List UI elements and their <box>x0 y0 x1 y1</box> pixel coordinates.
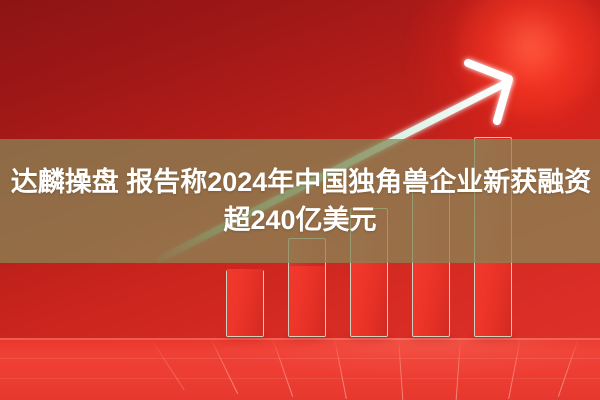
page-title: 达麟操盘 报告称2024年中国独角兽企业新获融资 超240亿美元 <box>0 139 600 263</box>
perspective-floor <box>0 338 600 400</box>
chart-bar-5-fill <box>475 261 511 336</box>
floor-horizontal-line <box>0 378 600 379</box>
chart-bar-2-fill <box>289 266 325 336</box>
chart-bar-1 <box>226 270 264 337</box>
floor-horizontal-line <box>0 358 600 359</box>
chart-bar-1-fill <box>227 269 263 336</box>
chart-bar-4-fill <box>413 261 449 336</box>
headline-line-1: 达麟操盘 报告称2024年中国独角兽企业新获融资 <box>0 165 600 199</box>
news-banner-image: 达麟操盘 报告称2024年中国独角兽企业新获融资 超240亿美元 <box>0 0 600 400</box>
chart-bar-3-fill <box>351 261 387 336</box>
headline-line-2: 超240亿美元 <box>0 203 600 237</box>
